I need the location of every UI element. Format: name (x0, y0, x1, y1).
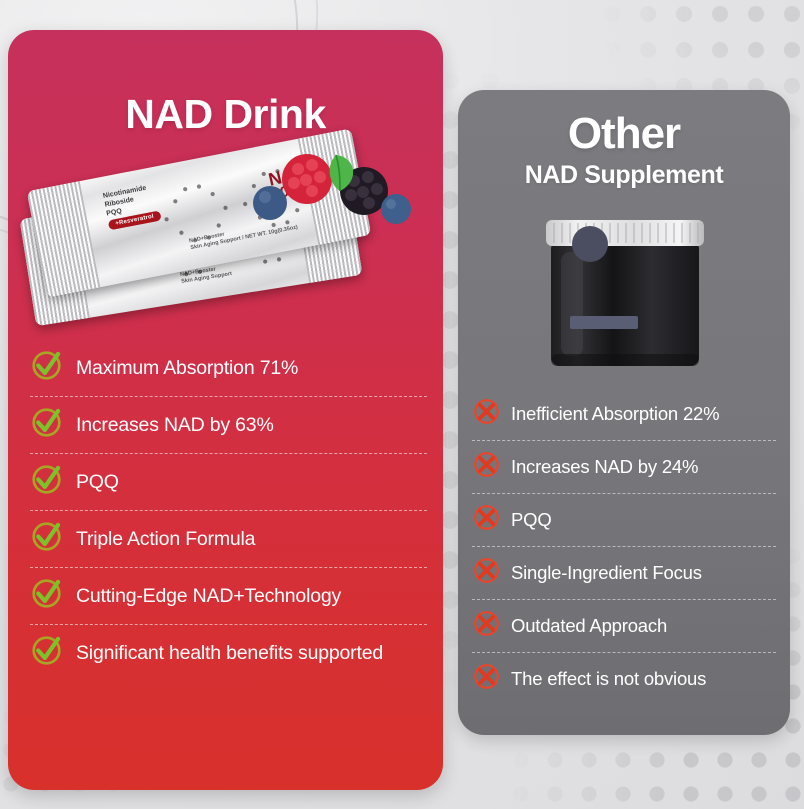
comparison-infographic: NAD Drink NicotinamideRibosidePQQ +Resve… (0, 0, 804, 809)
check-circle-icon (30, 463, 63, 501)
blueberry-left (253, 186, 287, 220)
left-card-title: NAD Drink (8, 30, 443, 135)
feature-row-2: Increases NAD by 63% (30, 396, 427, 453)
feature-row-1: Maximum Absorption 71% (30, 340, 427, 396)
drawback-label: PQQ (511, 509, 552, 530)
drawback-label: Inefficient Absorption 22% (511, 403, 719, 424)
cross-circle-icon (472, 397, 501, 431)
cross-circle-icon (472, 503, 501, 537)
drawback-label: Single-Ingredient Focus (511, 562, 702, 583)
feature-row-6: Significant health benefits supported (30, 624, 427, 681)
drawback-row-4: Single-Ingredient Focus (472, 546, 776, 599)
other-supplement-product-image (458, 198, 790, 380)
drawback-label: Increases NAD by 24% (511, 456, 698, 477)
feature-label: Triple Action Formula (76, 528, 255, 550)
check-circle-icon (30, 634, 63, 672)
check-circle-icon (30, 577, 63, 615)
feature-label: Significant health benefits supported (76, 642, 383, 664)
cross-circle-icon (472, 450, 501, 484)
cross-circle-icon (472, 556, 501, 590)
check-circle-icon (30, 406, 63, 444)
supplement-jar-graphic (458, 198, 790, 380)
drawback-row-6: The effect is not obvious (472, 652, 776, 705)
feature-row-4: Triple Action Formula (30, 510, 427, 567)
nad-drink-feature-list: Maximum Absorption 71% Increases NAD by … (8, 326, 443, 681)
berries-cluster-graphic (244, 147, 412, 243)
jar-label-bar (570, 316, 638, 329)
jar-label-blob (572, 226, 608, 262)
raspberry (282, 154, 332, 204)
feature-label: Cutting-Edge NAD+Technology (76, 585, 341, 607)
nad-drink-card: NAD Drink NicotinamideRibosidePQQ +Resve… (8, 30, 443, 790)
right-card-subtitle: NAD Supplement (458, 163, 790, 188)
cross-circle-icon (472, 609, 501, 643)
right-card-title: Other (458, 90, 790, 156)
drawback-row-2: Increases NAD by 24% (472, 440, 776, 493)
blueberry-right (381, 194, 411, 224)
drawback-row-3: PQQ (472, 493, 776, 546)
feature-label: Increases NAD by 63% (76, 414, 274, 436)
drawback-row-5: Outdated Approach (472, 599, 776, 652)
feature-label: PQQ (76, 471, 119, 493)
drawback-row-1: Inefficient Absorption 22% (472, 388, 776, 440)
drawback-label: The effect is not obvious (511, 668, 706, 689)
check-circle-icon (30, 349, 63, 387)
check-circle-icon (30, 520, 63, 558)
cross-circle-icon (472, 662, 501, 696)
feature-row-5: Cutting-Edge NAD+Technology (30, 567, 427, 624)
feature-row-3: PQQ (30, 453, 427, 510)
nad-drink-product-image: NicotinamideRibosidePQQ +Resveratrol NAD… (8, 141, 443, 326)
other-supplement-feature-list: Inefficient Absorption 22% Increases NAD… (458, 380, 790, 705)
feature-label: Maximum Absorption 71% (76, 357, 298, 379)
other-supplement-card: Other NAD Supplement (458, 90, 790, 735)
drawback-label: Outdated Approach (511, 615, 667, 636)
